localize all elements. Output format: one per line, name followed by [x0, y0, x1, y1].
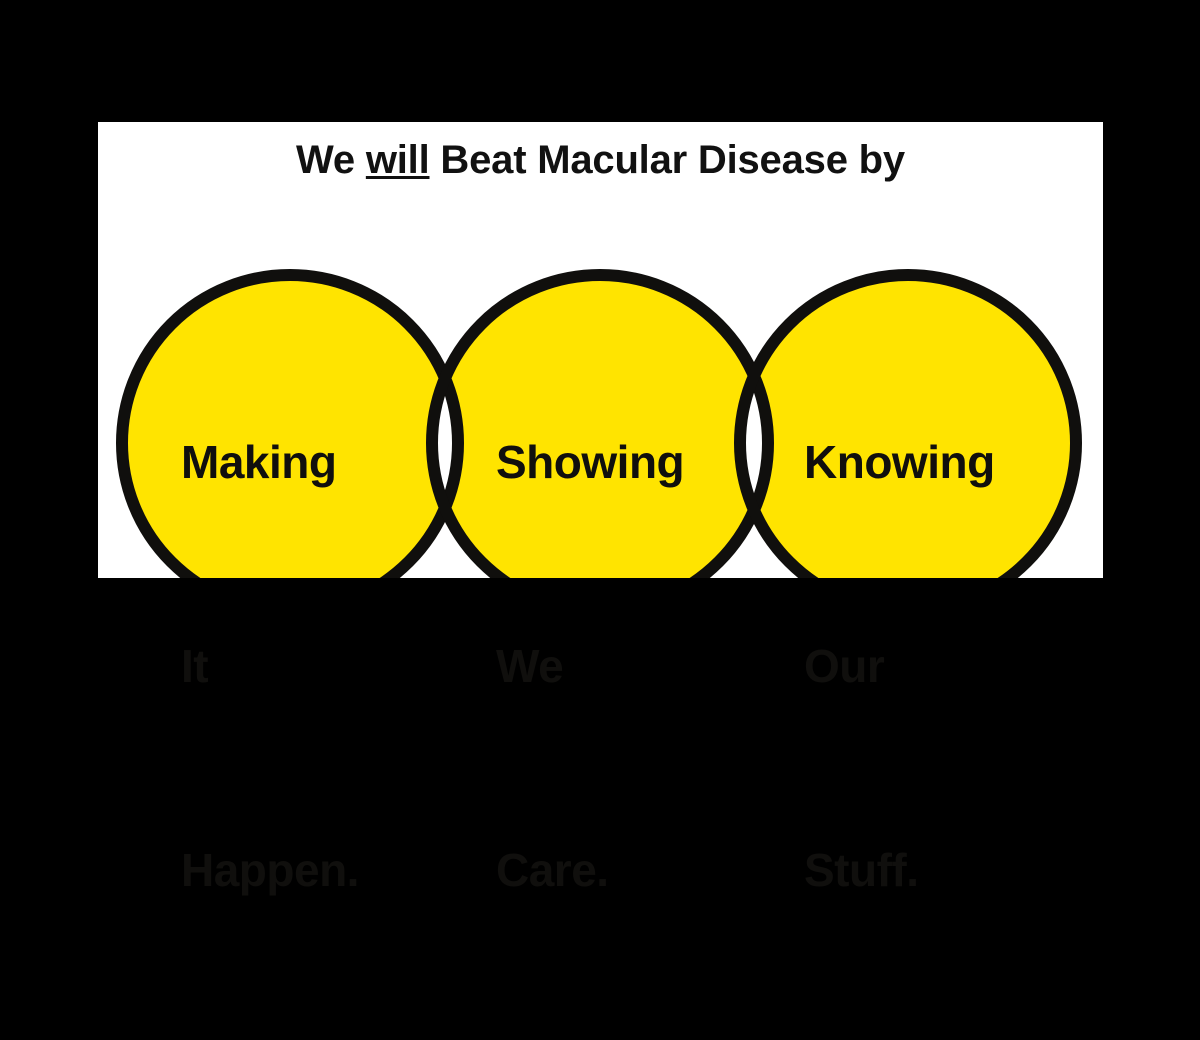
- circle-label-line: Happen.: [181, 836, 421, 904]
- title-emphasis-will: will: [366, 138, 430, 182]
- white-content-panel: We will Beat Macular Disease by: [98, 122, 1103, 578]
- circle-label-line: Our: [804, 632, 1054, 700]
- circle-label-line: We: [496, 632, 736, 700]
- page-title: We will Beat Macular Disease by: [98, 136, 1103, 184]
- circle-label-line: It: [181, 632, 421, 700]
- circle-label-line: Care.: [496, 836, 736, 904]
- title-part-before: We: [296, 138, 366, 182]
- venn-fills: [122, 275, 1076, 578]
- poster-canvas: We will Beat Macular Disease by: [0, 0, 1200, 700]
- circle-label-line: Stuff.: [804, 836, 1054, 904]
- title-part-after: Beat Macular Disease by: [430, 138, 905, 182]
- venn-diagram: [98, 184, 1103, 578]
